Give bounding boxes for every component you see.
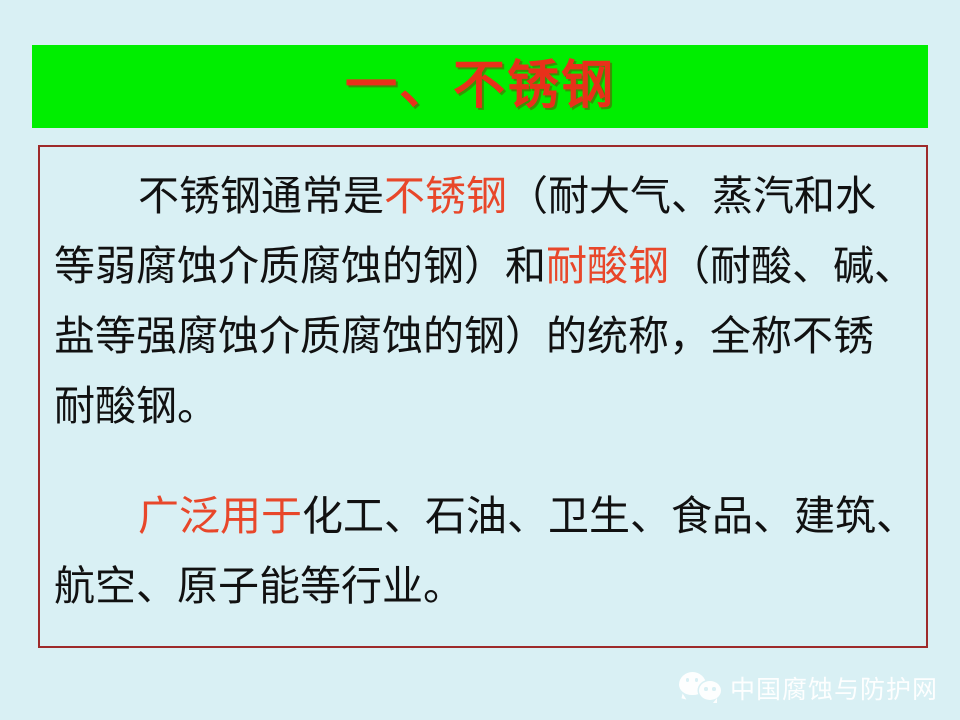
- body-text: （耐酸、碱、: [669, 243, 915, 289]
- highlighted-text: 不锈钢: [384, 173, 507, 219]
- wechat-dot: [712, 687, 716, 691]
- wechat-icon: [679, 670, 721, 706]
- text-line: 盐等强腐蚀介质腐蚀的钢）的统称，全称不锈: [54, 301, 918, 371]
- body-text: （耐大气、蒸汽和水: [507, 173, 876, 219]
- content-box: 不锈钢通常是不锈钢（耐大气、蒸汽和水等弱腐蚀介质腐蚀的钢）和耐酸钢（耐酸、碱、盐…: [38, 145, 928, 648]
- highlighted-text: 广泛用于: [138, 493, 302, 539]
- text-line: 耐酸钢。: [54, 371, 918, 441]
- body-text: 盐等强腐蚀介质腐蚀的钢）的统称，全称不锈: [54, 313, 874, 359]
- body-text: 航空、原子能等行业。: [54, 563, 464, 609]
- title-banner: 一、不锈钢: [32, 45, 928, 128]
- watermark-label: 中国腐蚀与防护网: [730, 670, 938, 706]
- footer-watermark: 中国腐蚀与防护网: [679, 670, 938, 706]
- slide: 一、不锈钢 不锈钢通常是不锈钢（耐大气、蒸汽和水等弱腐蚀介质腐蚀的钢）和耐酸钢（…: [0, 0, 960, 720]
- wechat-dot: [704, 687, 708, 691]
- text-line: 不锈钢通常是不锈钢（耐大气、蒸汽和水: [54, 161, 918, 231]
- body-text: 不锈钢通常是: [138, 173, 384, 219]
- page-title: 一、不锈钢: [345, 61, 615, 113]
- paragraph: 不锈钢通常是不锈钢（耐大气、蒸汽和水等弱腐蚀介质腐蚀的钢）和耐酸钢（耐酸、碱、盐…: [54, 161, 918, 441]
- content-body: 不锈钢通常是不锈钢（耐大气、蒸汽和水等弱腐蚀介质腐蚀的钢）和耐酸钢（耐酸、碱、盐…: [40, 147, 926, 621]
- body-text: 化工、石油、卫生、食品、建筑、: [302, 493, 917, 539]
- highlighted-text: 耐酸钢: [546, 243, 669, 289]
- body-text: 等弱腐蚀介质腐蚀的钢）和: [54, 243, 546, 289]
- text-line: 广泛用于化工、石油、卫生、食品、建筑、: [54, 481, 918, 551]
- text-line: 等弱腐蚀介质腐蚀的钢）和耐酸钢（耐酸、碱、: [54, 231, 918, 301]
- paragraph: 广泛用于化工、石油、卫生、食品、建筑、航空、原子能等行业。: [54, 481, 918, 621]
- body-text: 耐酸钢。: [54, 383, 218, 429]
- text-line: 航空、原子能等行业。: [54, 551, 918, 621]
- paragraph-spacer: [54, 441, 918, 481]
- wechat-bubble-small: [699, 681, 721, 700]
